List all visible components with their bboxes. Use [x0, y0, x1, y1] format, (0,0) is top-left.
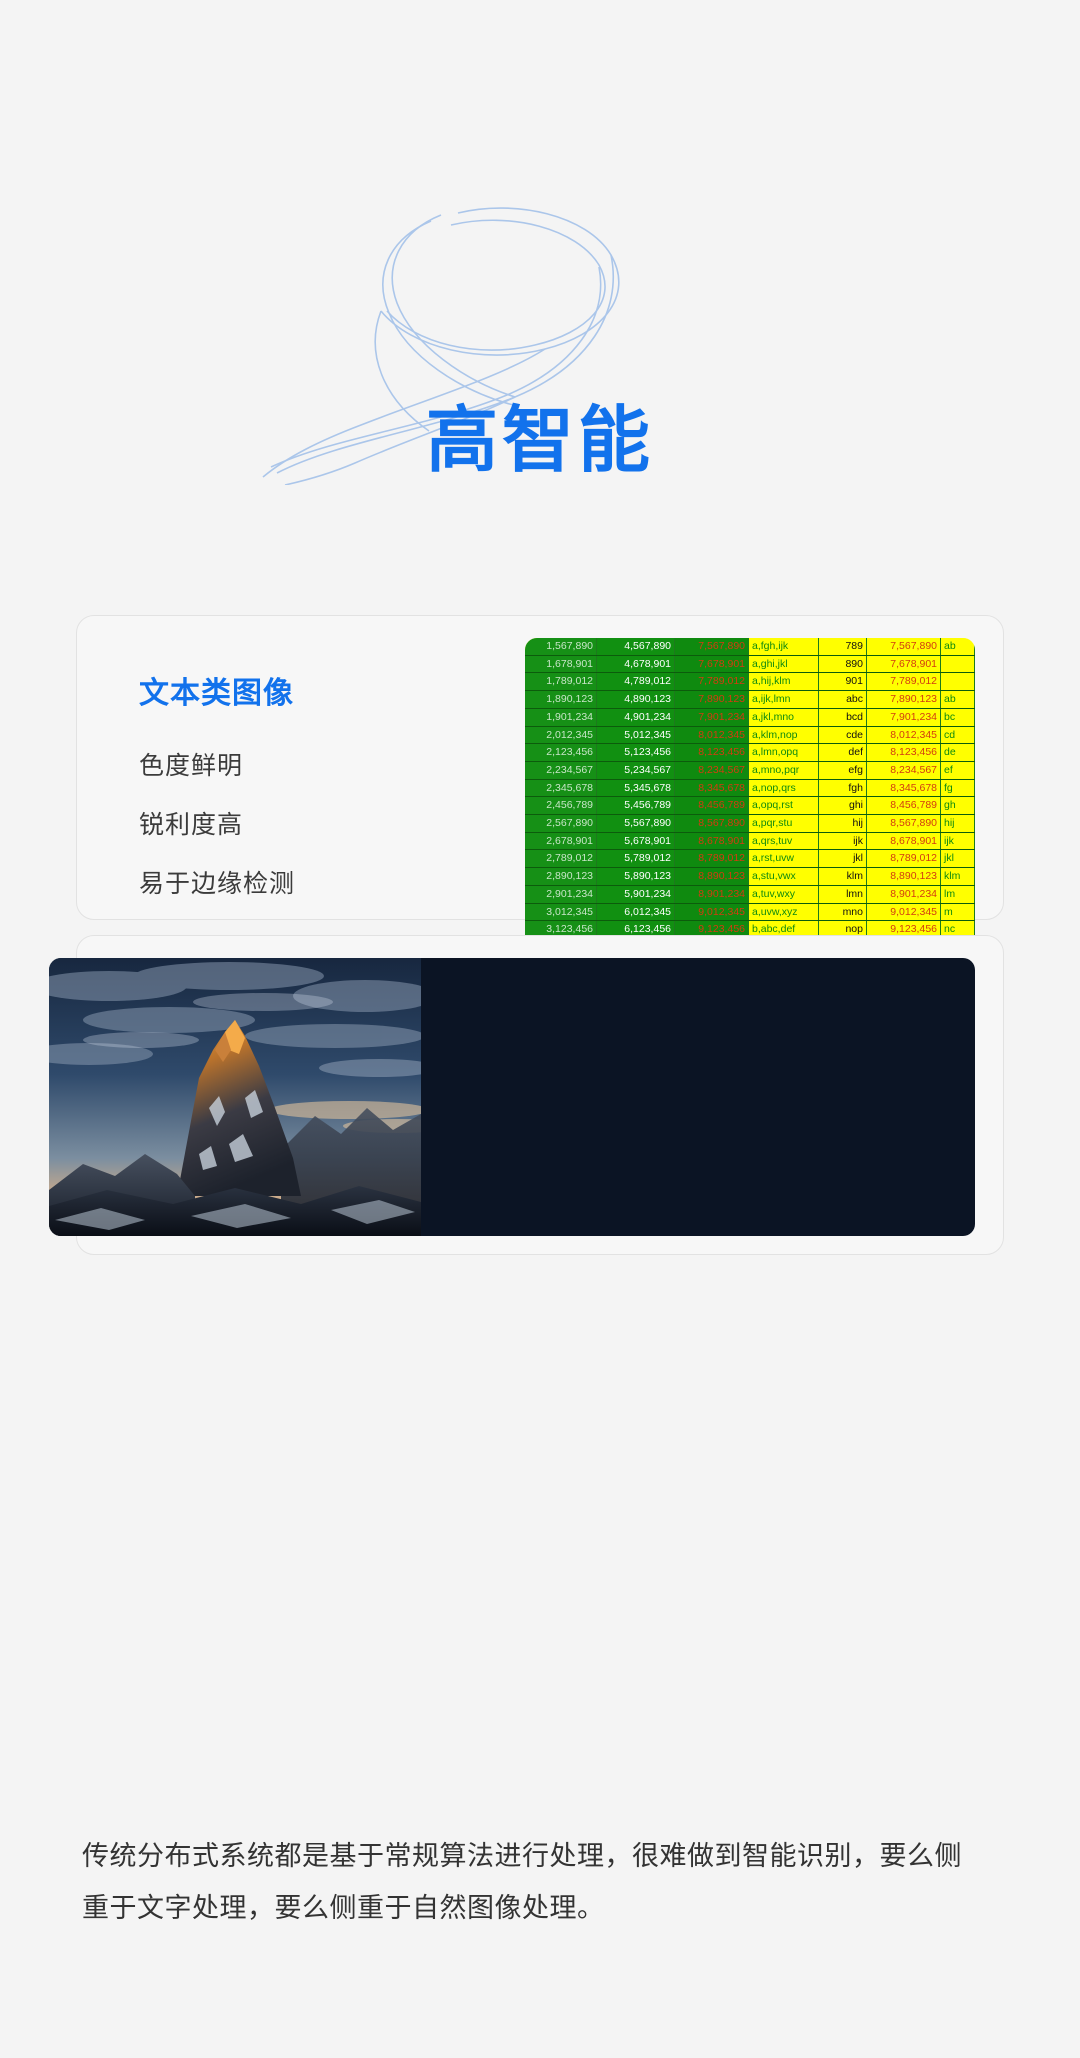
- table-cell: 2,890,123: [525, 868, 597, 886]
- page-title: 高智能: [0, 400, 1080, 483]
- table-cell: 7,789,012: [867, 673, 941, 691]
- table-cell: 5,901,234: [597, 885, 675, 903]
- table-cell: 8,234,567: [867, 761, 941, 779]
- table-row: 1,789,0124,789,0127,789,012a,hij,klm9017…: [525, 673, 975, 691]
- table-cell: a,uvw,xyz: [749, 903, 819, 921]
- table-cell: de: [941, 744, 975, 762]
- table-cell: def: [819, 744, 867, 762]
- table-cell: fg: [941, 779, 975, 797]
- table-cell: 2,789,012: [525, 850, 597, 868]
- table-cell: 8,890,123: [867, 868, 941, 886]
- table-row: 1,678,9014,678,9017,678,901a,ghi,jkl8907…: [525, 655, 975, 673]
- table-cell: a,pqr,stu: [749, 815, 819, 833]
- table-row: 2,456,7895,456,7898,456,789a,opq,rstghi8…: [525, 797, 975, 815]
- table-cell: a,opq,rst: [749, 797, 819, 815]
- table-cell: efg: [819, 761, 867, 779]
- table-cell: fgh: [819, 779, 867, 797]
- table-cell: 2,456,789: [525, 797, 597, 815]
- table-cell: cd: [941, 726, 975, 744]
- table-cell: [941, 673, 975, 691]
- table-row: 2,901,2345,901,2348,901,234a,tuv,wxylmn8…: [525, 885, 975, 903]
- table-cell: klm: [819, 868, 867, 886]
- table-cell: 8,678,901: [867, 832, 941, 850]
- table-cell: 6,012,345: [597, 903, 675, 921]
- table-cell: a,klm,nop: [749, 726, 819, 744]
- table-cell: 2,678,901: [525, 832, 597, 850]
- table-cell: a,fgh,ijk: [749, 638, 819, 655]
- table-cell: 4,789,012: [597, 673, 675, 691]
- table-cell: 7,678,901: [675, 655, 749, 673]
- table-cell: 8,012,345: [675, 726, 749, 744]
- table-cell: 5,234,567: [597, 761, 675, 779]
- table-cell: ab: [941, 638, 975, 655]
- page-root: 高智能 图像一般分为两类,文本类图像和自然类图像 文本类图像 色度鲜明 锐利度高…: [0, 0, 1080, 2058]
- table-cell: ab: [941, 691, 975, 709]
- table-cell: 8,012,345: [867, 726, 941, 744]
- table-cell: 9,012,345: [867, 903, 941, 921]
- table-cell: 7,901,234: [867, 708, 941, 726]
- feature-item: 易于边缘检测: [139, 864, 429, 900]
- table-cell: 8,789,012: [867, 850, 941, 868]
- table-cell: 8,901,234: [867, 885, 941, 903]
- table-cell: 5,678,901: [597, 832, 675, 850]
- table-row: 2,234,5675,234,5678,234,567a,mno,pqrefg8…: [525, 761, 975, 779]
- table-cell: 7,890,123: [675, 691, 749, 709]
- table-row: 2,567,8905,567,8908,567,890a,pqr,stuhij8…: [525, 815, 975, 833]
- table-cell: 8,890,123: [675, 868, 749, 886]
- table-row: 1,890,1234,890,1237,890,123a,ijk,lmnabc7…: [525, 691, 975, 709]
- card-text-image-heading: 文本类图像: [139, 668, 429, 712]
- table-cell: 2,234,567: [525, 761, 597, 779]
- table-cell: bcd: [819, 708, 867, 726]
- table-cell: gh: [941, 797, 975, 815]
- table-cell: 9,012,345: [675, 903, 749, 921]
- table-cell: 7,678,901: [867, 655, 941, 673]
- table-cell: lmn: [819, 885, 867, 903]
- table-cell: ijk: [819, 832, 867, 850]
- card-natural-image: 自然类图像 色彩丰富 过渡平滑 整体性强: [76, 935, 1004, 1255]
- table-cell: 2,012,345: [525, 726, 597, 744]
- table-cell: 4,567,890: [597, 638, 675, 655]
- table-cell: 5,123,456: [597, 744, 675, 762]
- table-cell: a,tuv,wxy: [749, 885, 819, 903]
- table-cell: 3,012,345: [525, 903, 597, 921]
- table-cell: bc: [941, 708, 975, 726]
- table-cell: 2,901,234: [525, 885, 597, 903]
- table-cell: 8,123,456: [867, 744, 941, 762]
- table-row: 2,012,3455,012,3458,012,345a,klm,nopcde8…: [525, 726, 975, 744]
- table-cell: a,stu,vwx: [749, 868, 819, 886]
- table-cell: 8,567,890: [675, 815, 749, 833]
- table-cell: lm: [941, 885, 975, 903]
- table-cell: 8,678,901: [675, 832, 749, 850]
- table-cell: a,rst,uvw: [749, 850, 819, 868]
- table-cell: 2,345,678: [525, 779, 597, 797]
- footer-paragraph: 传统分布式系统都是基于常规算法进行处理，很难做到智能识别，要么侧重于文字处理，要…: [82, 1830, 962, 1934]
- table-cell: 1,901,234: [525, 708, 597, 726]
- table-cell: 789: [819, 638, 867, 655]
- table-cell: ghi: [819, 797, 867, 815]
- table-cell: a,jkl,mno: [749, 708, 819, 726]
- table-cell: 8,456,789: [675, 797, 749, 815]
- table-cell: 8,345,678: [675, 779, 749, 797]
- table-cell: abc: [819, 691, 867, 709]
- table-cell: jkl: [819, 850, 867, 868]
- table-cell: 7,890,123: [867, 691, 941, 709]
- table-cell: hij: [941, 815, 975, 833]
- table-row: 2,345,6785,345,6788,345,678a,nop,qrsfgh8…: [525, 779, 975, 797]
- table-cell: a,nop,qrs: [749, 779, 819, 797]
- card-text-image: 文本类图像 色度鲜明 锐利度高 易于边缘检测 1,567,8904,567,89…: [76, 615, 1004, 920]
- table-row: 1,567,8904,567,8907,567,890a,fgh,ijk7897…: [525, 638, 975, 655]
- hero-section: 高智能: [0, 0, 1080, 620]
- table-cell: 2,567,890: [525, 815, 597, 833]
- table-cell: 1,678,901: [525, 655, 597, 673]
- table-cell: 8,901,234: [675, 885, 749, 903]
- table-cell: 7,901,234: [675, 708, 749, 726]
- table-cell: 890: [819, 655, 867, 673]
- table-cell: 7,789,012: [675, 673, 749, 691]
- table-cell: a,ghi,jkl: [749, 655, 819, 673]
- table-cell: 7,567,890: [675, 638, 749, 655]
- table-cell: 5,789,012: [597, 850, 675, 868]
- table-row: 3,012,3456,012,3459,012,345a,uvw,xyzmno9…: [525, 903, 975, 921]
- table-cell: 5,890,123: [597, 868, 675, 886]
- table-cell: 1,789,012: [525, 673, 597, 691]
- table-cell: jkl: [941, 850, 975, 868]
- table-cell: klm: [941, 868, 975, 886]
- table-cell: 5,012,345: [597, 726, 675, 744]
- table-cell: 5,567,890: [597, 815, 675, 833]
- table-cell: 5,456,789: [597, 797, 675, 815]
- table-cell: 4,901,234: [597, 708, 675, 726]
- table-cell: ijk: [941, 832, 975, 850]
- table-row: 2,123,4565,123,4568,123,456a,lmn,opqdef8…: [525, 744, 975, 762]
- feature-item: 锐利度高: [139, 805, 429, 841]
- table-cell: 2,123,456: [525, 744, 597, 762]
- table-cell: hij: [819, 815, 867, 833]
- table-cell: 1,567,890: [525, 638, 597, 655]
- table-cell: 8,123,456: [675, 744, 749, 762]
- table-cell: m: [941, 903, 975, 921]
- table-row: 2,789,0125,789,0128,789,012a,rst,uvwjkl8…: [525, 850, 975, 868]
- table-cell: a,ijk,lmn: [749, 691, 819, 709]
- table-cell: a,mno,pqr: [749, 761, 819, 779]
- table-cell: 8,789,012: [675, 850, 749, 868]
- table-cell: cde: [819, 726, 867, 744]
- table-cell: 901: [819, 673, 867, 691]
- table-cell: 8,234,567: [675, 761, 749, 779]
- table-cell: 8,567,890: [867, 815, 941, 833]
- card-text-image-content: 文本类图像 色度鲜明 锐利度高 易于边缘检测: [139, 668, 429, 923]
- table-cell: 4,678,901: [597, 655, 675, 673]
- table-cell: a,lmn,opq: [749, 744, 819, 762]
- table-cell: 1,890,123: [525, 691, 597, 709]
- table-cell: 5,345,678: [597, 779, 675, 797]
- table-row: 2,890,1235,890,1238,890,123a,stu,vwxklm8…: [525, 868, 975, 886]
- table-row: 1,901,2344,901,2347,901,234a,jkl,mnobcd7…: [525, 708, 975, 726]
- table-cell: a,qrs,tuv: [749, 832, 819, 850]
- table-cell: mno: [819, 903, 867, 921]
- table-cell: [941, 655, 975, 673]
- table-cell: 8,345,678: [867, 779, 941, 797]
- table-cell: a,hij,klm: [749, 673, 819, 691]
- table-cell: 4,890,123: [597, 691, 675, 709]
- table-cell: 7,567,890: [867, 638, 941, 655]
- table-row: 2,678,9015,678,9018,678,901a,qrs,tuvijk8…: [525, 832, 975, 850]
- table-cell: ef: [941, 761, 975, 779]
- feature-item: 色度鲜明: [139, 746, 429, 782]
- table-cell: 8,456,789: [867, 797, 941, 815]
- mountain-photo: [49, 958, 975, 1236]
